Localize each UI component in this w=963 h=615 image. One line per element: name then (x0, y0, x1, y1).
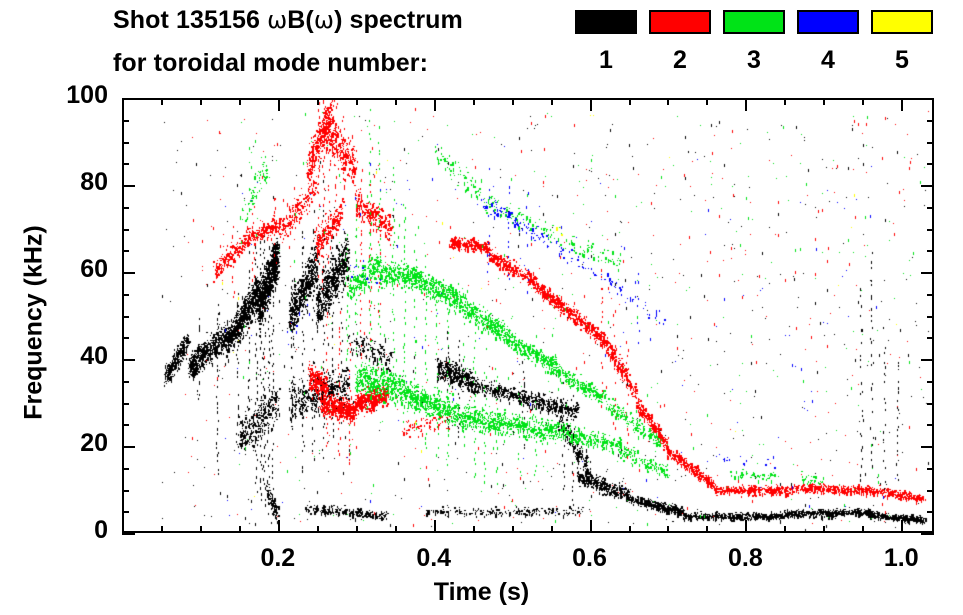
y-tick-right (927, 207, 934, 209)
y-tick-minor (122, 468, 129, 470)
x-tick-major (590, 520, 592, 533)
x-tick-top (823, 98, 825, 105)
y-tick-minor (122, 403, 129, 405)
legend-swatch-2 (649, 10, 711, 34)
x-tick-minor (667, 526, 669, 533)
x-tick-minor (161, 526, 163, 533)
y-tick-right (927, 294, 934, 296)
y-tick-minor (122, 511, 129, 513)
y-tick-minor (122, 316, 129, 318)
x-tick-major (434, 520, 436, 533)
x-tick-minor (473, 526, 475, 533)
x-tick-minor (706, 526, 708, 533)
legend-entry-5: 5 (871, 10, 933, 75)
x-tick-top (239, 98, 241, 105)
legend-swatch-3 (723, 10, 785, 34)
x-tick-top (862, 98, 864, 105)
x-tick-label-1.0: 1.0 (861, 544, 941, 573)
y-tick-right (927, 120, 934, 122)
x-tick-major (745, 520, 747, 533)
y-tick-right (927, 229, 934, 231)
x-tick-label-0.2: 0.2 (238, 544, 318, 573)
x-tick-top (434, 98, 436, 111)
y-tick-minor (122, 337, 129, 339)
x-tick-top (784, 98, 786, 105)
y-tick-minor (122, 424, 129, 426)
x-tick-top (278, 98, 280, 111)
y-tick-right (927, 490, 934, 492)
y-tick-minor (122, 490, 129, 492)
x-tick-minor (551, 526, 553, 533)
y-tick-right (921, 272, 934, 274)
legend-entry-3: 3 (723, 10, 785, 75)
legend-swatch-5 (871, 10, 933, 34)
y-tick-minor (122, 381, 129, 383)
x-tick-minor (629, 526, 631, 533)
y-tick-right (921, 185, 934, 187)
omega-symbol-2: ω (314, 6, 334, 34)
legend-label-4: 4 (797, 46, 859, 75)
x-tick-label-0.4: 0.4 (394, 544, 474, 573)
x-tick-minor (862, 526, 864, 533)
y-tick-right (927, 337, 934, 339)
spectrogram-figure: Shot 135156 ωB(ω) spectrum for toroidal … (0, 0, 963, 615)
legend-swatch-1 (575, 10, 637, 34)
y-tick-label-100: 100 (34, 81, 108, 110)
y-tick-minor (122, 229, 129, 231)
x-tick-minor (317, 526, 319, 533)
y-tick-minor (122, 294, 129, 296)
x-tick-top (745, 98, 747, 111)
x-tick-top (512, 98, 514, 105)
x-tick-minor (395, 526, 397, 533)
x-tick-minor (512, 526, 514, 533)
title-b-open: B( (287, 6, 314, 34)
y-tick-minor (122, 163, 129, 165)
y-tick-minor (122, 250, 129, 252)
y-tick-right (921, 98, 934, 100)
y-tick-right (927, 250, 934, 252)
figure-title-line-1: Shot 135156 ωB(ω) spectrum (113, 6, 463, 35)
y-tick-major (122, 185, 135, 187)
x-tick-minor (200, 526, 202, 533)
x-tick-top (551, 98, 553, 105)
y-tick-minor (122, 120, 129, 122)
omega-symbol-1: ω (267, 6, 287, 34)
title-spectrum-suffix: ) spectrum (334, 6, 463, 34)
y-tick-label-0: 0 (34, 516, 108, 545)
x-tick-top (161, 98, 163, 105)
x-tick-minor (356, 526, 358, 533)
x-tick-top (317, 98, 319, 105)
y-tick-right (921, 446, 934, 448)
y-tick-major (122, 98, 135, 100)
y-tick-right (927, 511, 934, 513)
y-tick-right (921, 359, 934, 361)
x-tick-major (901, 520, 903, 533)
title-shot-prefix: Shot 135156 (113, 6, 267, 34)
x-tick-top (629, 98, 631, 105)
y-tick-right (927, 403, 934, 405)
y-tick-right (927, 468, 934, 470)
y-axis-title: Frequency (kHz) (20, 183, 49, 463)
y-tick-major (122, 533, 135, 535)
x-tick-top (395, 98, 397, 105)
legend-label-3: 3 (723, 46, 785, 75)
legend-swatch-4 (797, 10, 859, 34)
x-tick-label-0.8: 0.8 (705, 544, 785, 573)
y-tick-major (122, 359, 135, 361)
y-tick-minor (122, 142, 129, 144)
y-tick-right (927, 142, 934, 144)
figure-title-line-2: for toroidal mode number: (113, 49, 428, 78)
x-tick-top (667, 98, 669, 105)
x-tick-major (278, 520, 280, 533)
legend-entry-4: 4 (797, 10, 859, 75)
legend-label-5: 5 (871, 46, 933, 75)
x-tick-top (590, 98, 592, 111)
spectrogram-canvas (124, 100, 932, 531)
legend-entry-1: 1 (575, 10, 637, 75)
x-tick-minor (784, 526, 786, 533)
legend: 12345 (575, 10, 940, 90)
x-tick-minor (122, 526, 124, 533)
y-tick-major (122, 446, 135, 448)
legend-label-2: 2 (649, 46, 711, 75)
x-tick-top (901, 98, 903, 111)
x-tick-top (356, 98, 358, 105)
x-tick-top (200, 98, 202, 105)
legend-entry-2: 2 (649, 10, 711, 75)
x-axis-title: Time (s) (0, 578, 963, 607)
y-tick-right (927, 316, 934, 318)
y-tick-right (921, 533, 934, 535)
legend-label-1: 1 (575, 46, 637, 75)
y-tick-right (927, 163, 934, 165)
y-tick-major (122, 272, 135, 274)
y-tick-minor (122, 207, 129, 209)
x-tick-minor (823, 526, 825, 533)
x-tick-label-0.6: 0.6 (550, 544, 630, 573)
x-tick-minor (239, 526, 241, 533)
x-tick-top (473, 98, 475, 105)
y-tick-right (927, 381, 934, 383)
x-tick-top (706, 98, 708, 105)
y-tick-right (927, 424, 934, 426)
